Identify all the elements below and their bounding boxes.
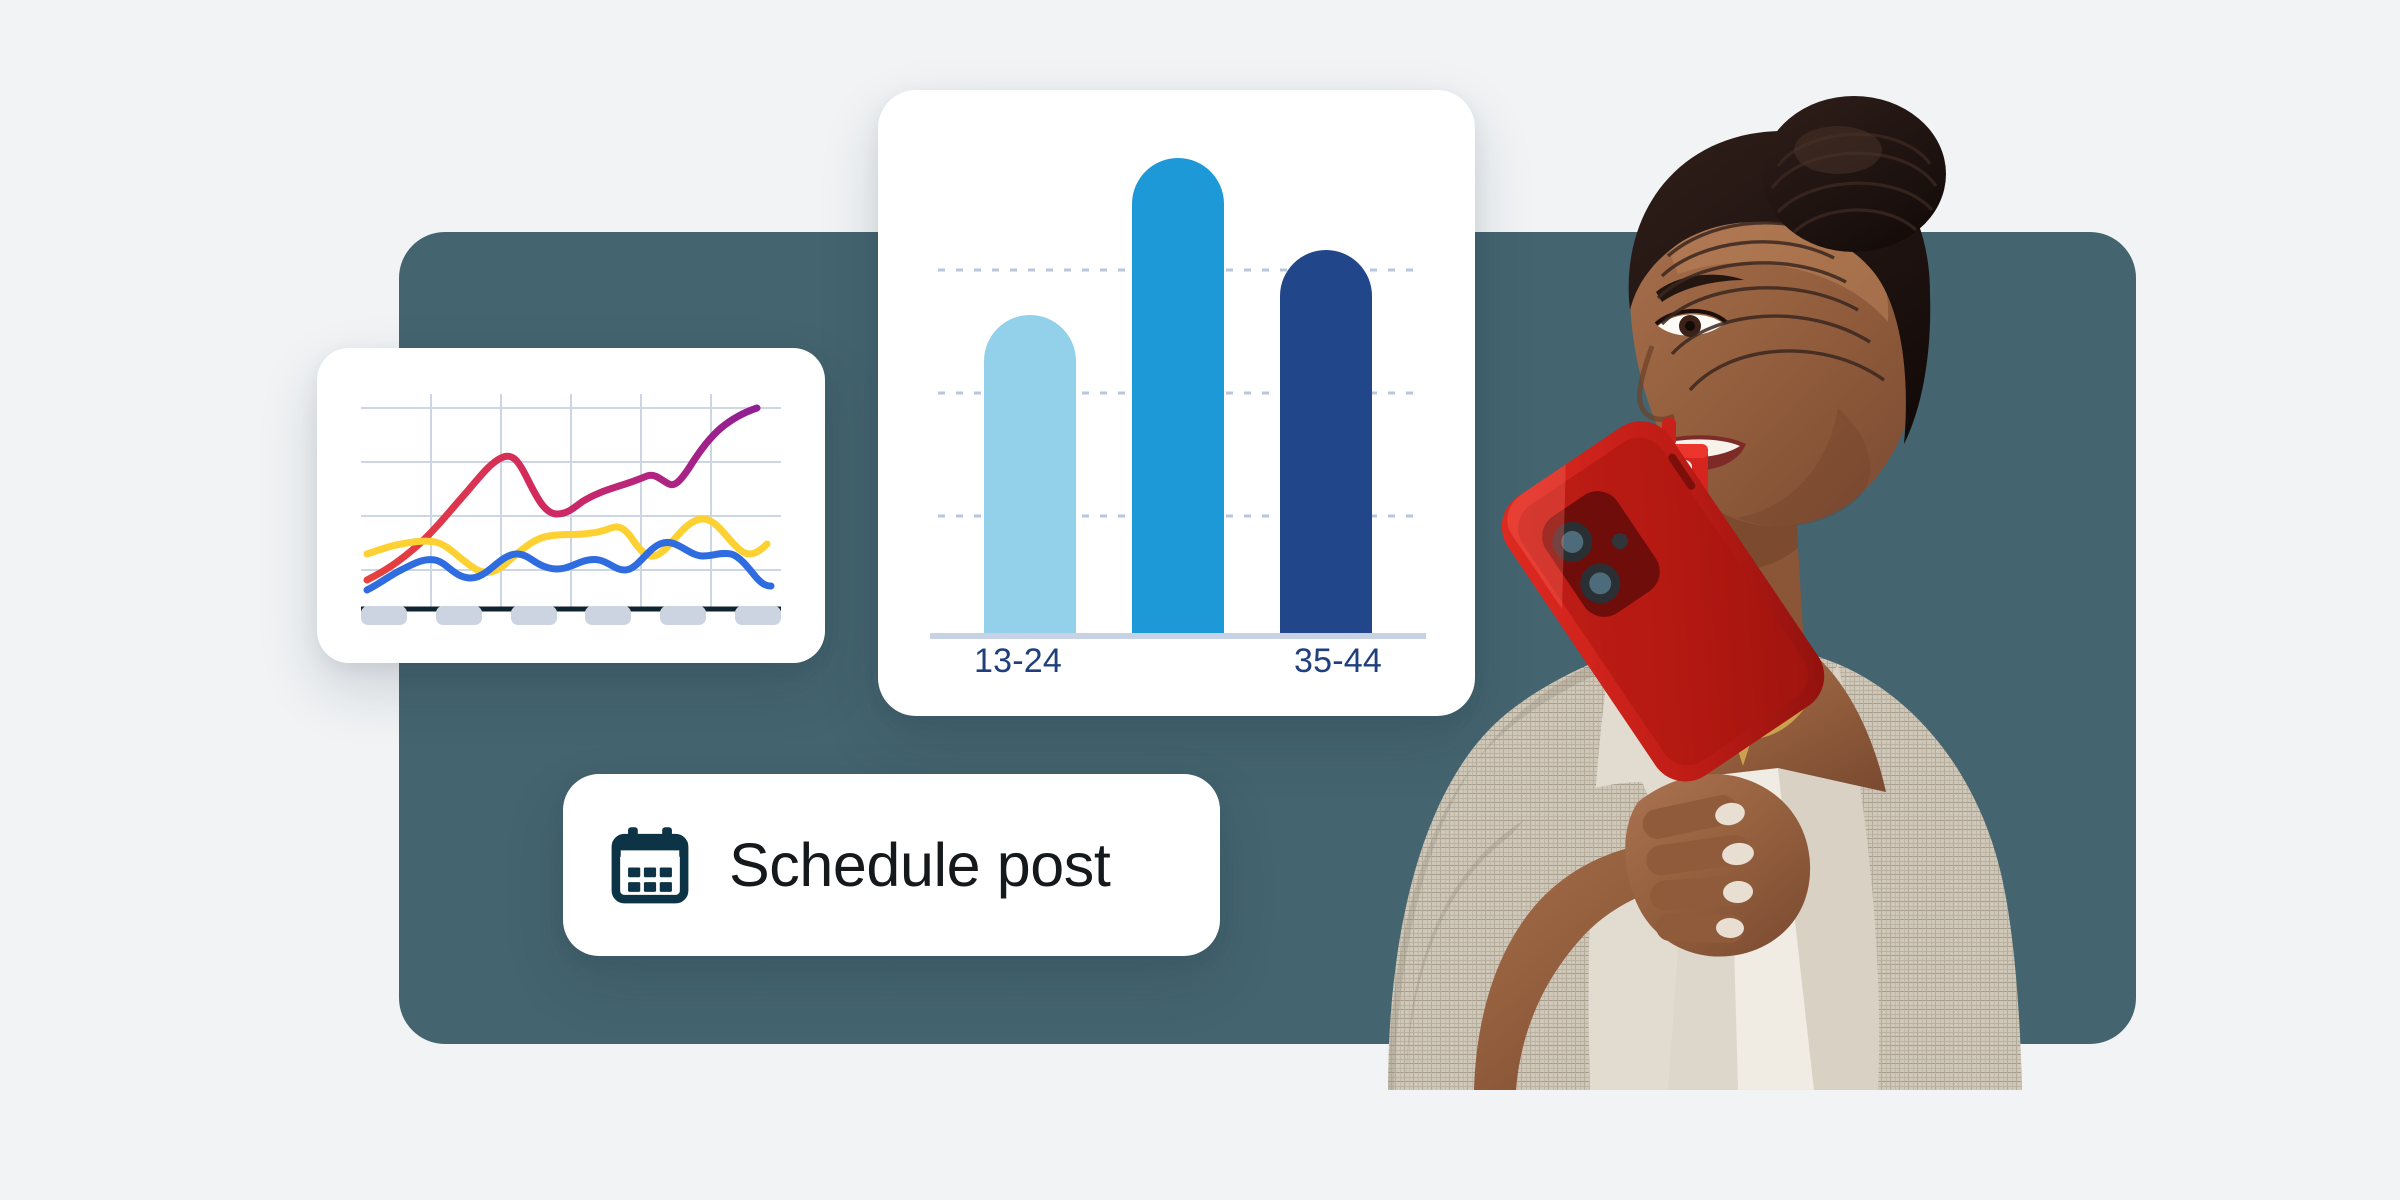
- calendar-icon: [611, 826, 689, 904]
- placeholder-pill: [436, 606, 482, 625]
- pupil: [1685, 321, 1695, 331]
- bar-13-24: [984, 315, 1076, 638]
- schedule-post-card[interactable]: Schedule post: [563, 774, 1220, 956]
- person-illustration: [1238, 78, 2028, 1090]
- line-chart-plot: [361, 394, 781, 624]
- placeholder-pill: [511, 606, 557, 625]
- bar-25-34: [1132, 158, 1224, 638]
- performance-trend-card[interactable]: [317, 348, 825, 663]
- bar-label-0: 13-24: [974, 642, 1062, 681]
- placeholder-pill: [585, 606, 631, 625]
- placeholder-pill: [361, 606, 407, 625]
- chart-legend-placeholder-row: [361, 604, 781, 626]
- person-photo: [1238, 78, 2028, 1090]
- hair-bun: [1762, 96, 1946, 252]
- placeholder-pill: [660, 606, 706, 625]
- schedule-post-label: Schedule post: [729, 830, 1110, 900]
- line-chart-svg: [361, 394, 781, 624]
- hair-bun-highlight: [1794, 126, 1882, 174]
- placeholder-pill: [735, 606, 781, 625]
- hero-composition: 13-24 25-34 35-44: [0, 0, 2400, 1200]
